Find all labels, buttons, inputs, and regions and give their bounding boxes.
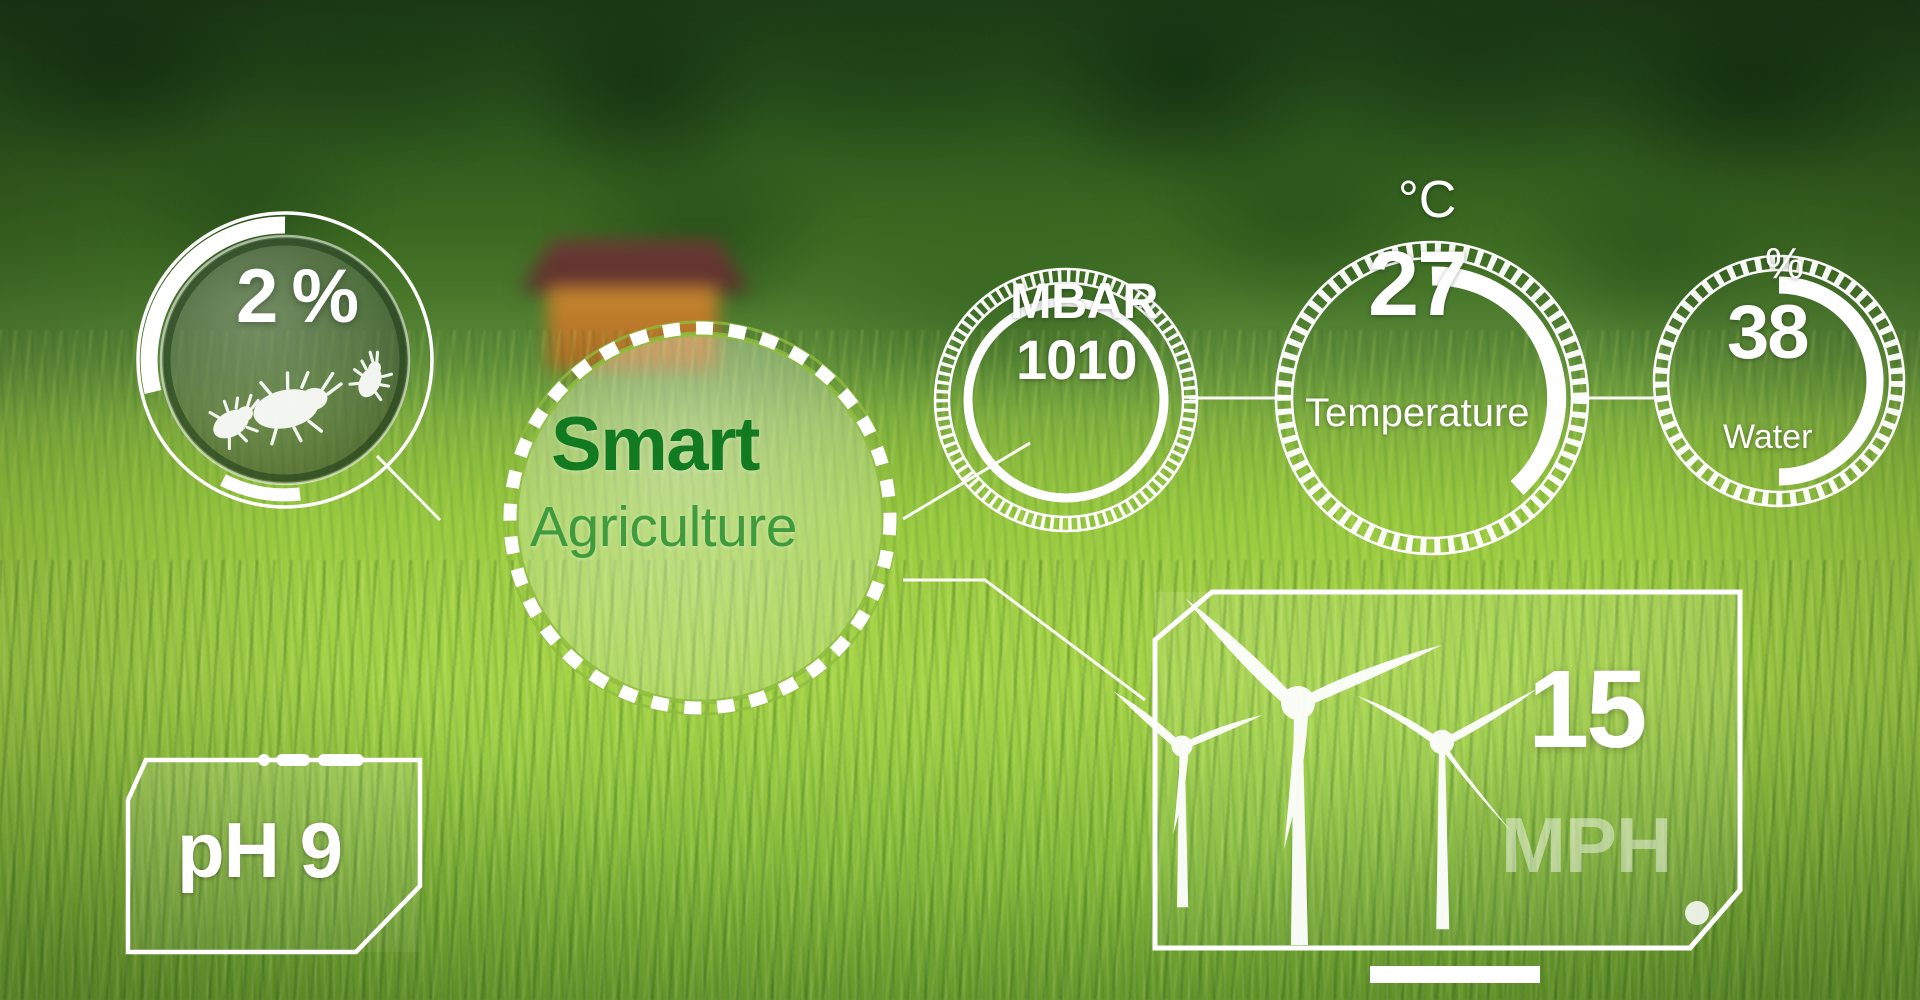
temperature-label: Temperature <box>1305 391 1530 436</box>
pressure-value: 1010 <box>1016 327 1137 392</box>
brand-title-line2: Agriculture <box>530 494 797 560</box>
ph-value: pH 9 <box>177 805 342 896</box>
water-label: Water <box>1723 418 1812 457</box>
pressure-unit: MBAR <box>1010 272 1158 330</box>
screenshot-root: 2 % Smart Agriculture MBAR 1010 °C 27 Te… <box>0 0 1920 1000</box>
water-value: 38 <box>1727 289 1808 376</box>
pest-value: 2 % <box>236 253 358 340</box>
temperature-unit: °C <box>1398 170 1456 230</box>
wind-panel[interactable] <box>1114 592 1740 983</box>
hud-overlay: 2 % Smart Agriculture MBAR 1010 °C 27 Te… <box>0 0 1920 1000</box>
water-unit: % <box>1765 239 1804 289</box>
wind-panel-corner-dot <box>1685 901 1709 925</box>
wind-panel-bottom-bar <box>1370 966 1540 983</box>
wind-unit: MPH <box>1501 800 1671 891</box>
brand-title-line1: Smart <box>551 401 759 488</box>
temperature-value: 27 <box>1368 232 1466 337</box>
wind-value: 15 <box>1528 646 1644 773</box>
